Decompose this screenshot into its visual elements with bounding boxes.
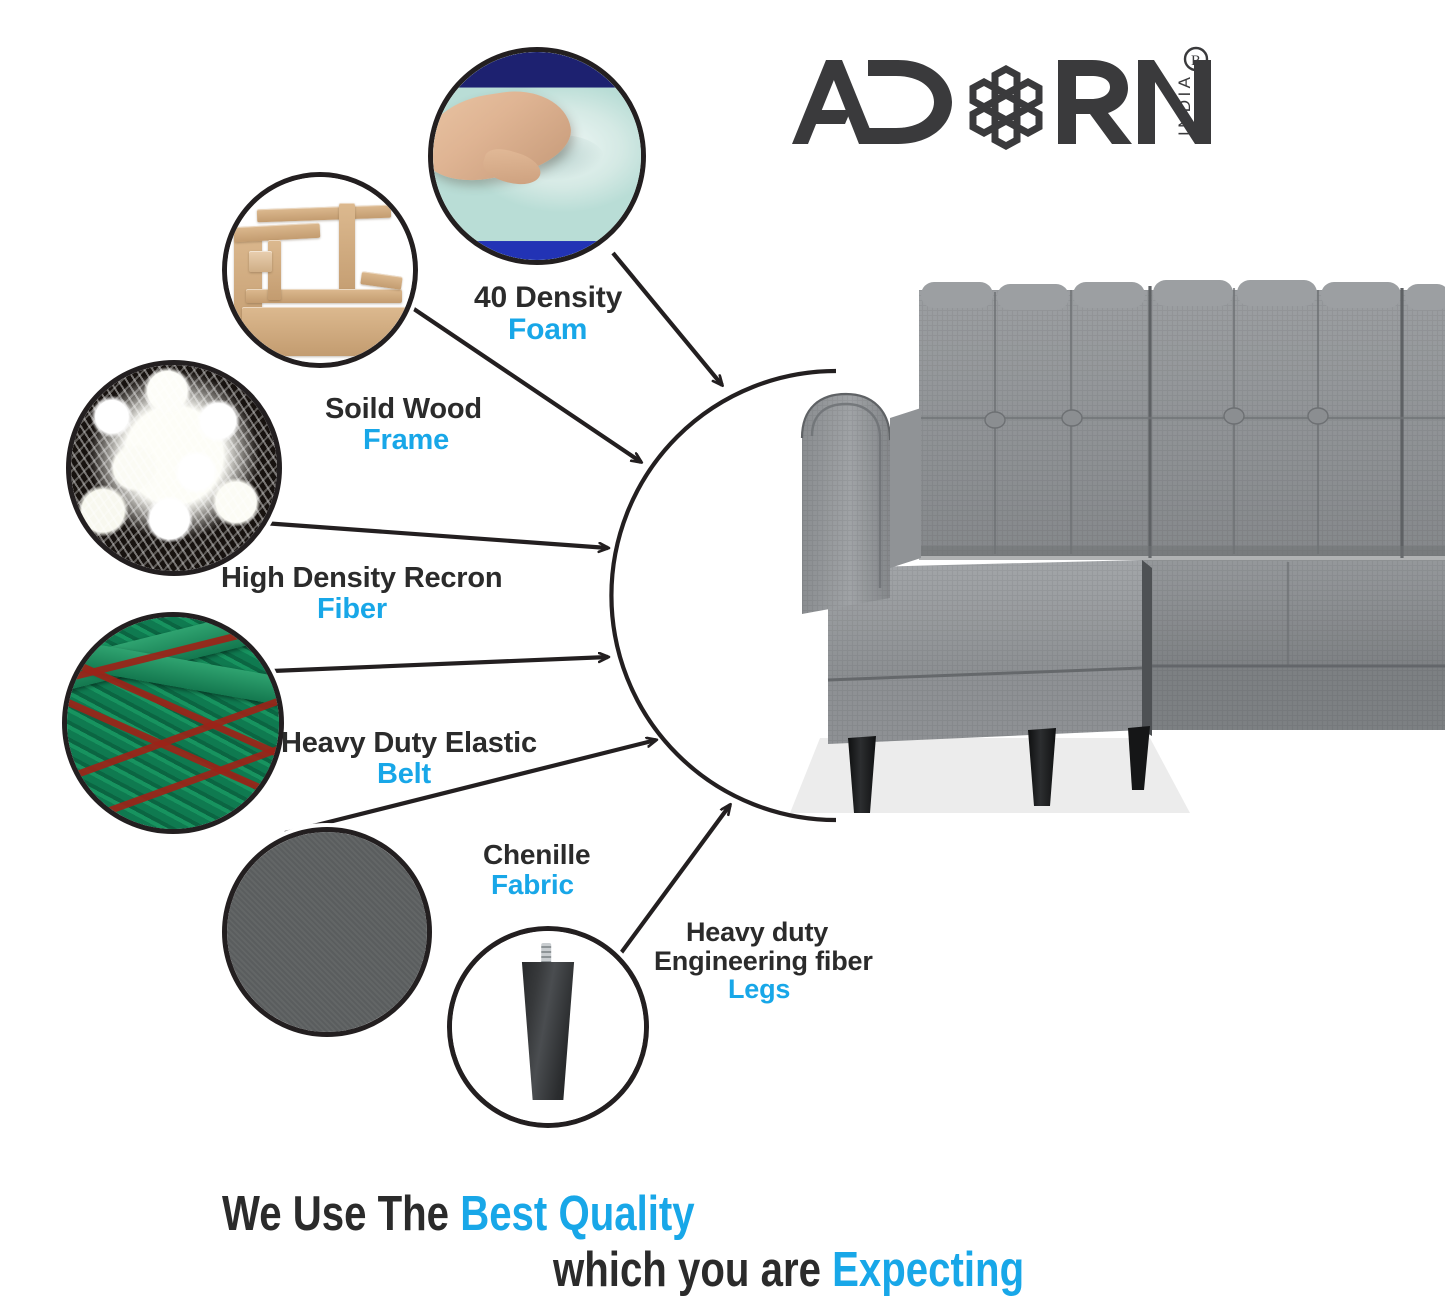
- feature-circle-belt: [62, 612, 284, 834]
- wooden-frame-photo: [227, 177, 413, 363]
- tagline-line2-accent: Expecting: [832, 1243, 1024, 1297]
- brand-logo: INDIA R: [786, 44, 1216, 166]
- label-fiber: High Density Recron Fiber: [221, 563, 502, 624]
- sofa-backrest: [919, 280, 1445, 560]
- sofa-arm: [802, 394, 890, 614]
- chenille-fabric-swatch: [227, 832, 427, 1032]
- label-fabric: Chenille Fabric: [483, 840, 590, 899]
- label-frame-highlight: Frame: [363, 425, 482, 456]
- registered-trademark-icon: R: [1185, 48, 1207, 70]
- feature-circle-frame: [222, 172, 418, 368]
- brand-sub-label: INDIA: [1175, 74, 1194, 136]
- tagline-line1-accent: Best Quality: [460, 1187, 694, 1241]
- label-fiber-title: High Density Recron: [221, 563, 502, 594]
- label-belt-title: Heavy Duty Elastic: [281, 728, 537, 759]
- svg-text:R: R: [1191, 53, 1201, 69]
- feature-circle-fiber: [66, 360, 282, 576]
- label-legs-title-line2: Engineering fiber: [654, 947, 873, 976]
- label-frame-title: Soild Wood: [325, 394, 482, 425]
- label-belt-highlight: Belt: [377, 759, 537, 790]
- elastic-webbing-photo: [67, 617, 279, 829]
- infographic-canvas: INDIA R: [0, 0, 1445, 1314]
- label-foam-title: 40 Density: [474, 282, 622, 314]
- label-fabric-title: Chenille: [483, 840, 590, 870]
- label-frame: Soild Wood Frame: [325, 394, 482, 455]
- arrow-belt: [272, 657, 608, 671]
- tagline-line-1: We Use The Best Quality: [222, 1186, 695, 1242]
- tagline-line1-dark: We Use The: [222, 1187, 449, 1241]
- feature-circle-foam: [428, 47, 646, 265]
- arrow-fiber: [263, 523, 608, 548]
- tagline-line-2: which you are Expecting: [553, 1242, 1024, 1298]
- sofa-illustration: [790, 268, 1445, 833]
- sofa-leg-photo: [452, 931, 644, 1123]
- label-fiber-highlight: Fiber: [317, 594, 502, 625]
- label-belt: Heavy Duty Elastic Belt: [281, 728, 537, 789]
- label-legs-highlight: Legs: [728, 975, 873, 1004]
- label-foam-highlight: Foam: [508, 314, 622, 346]
- honeycomb-hexagon-cluster-icon: [973, 69, 1039, 146]
- tagline-line2-dark: which you are: [553, 1243, 821, 1297]
- brand-sub-text: INDIA: [1175, 74, 1194, 136]
- foam-sample-photo: [433, 52, 641, 260]
- feature-circle-legs: [447, 926, 649, 1128]
- arrow-foam: [613, 253, 722, 385]
- recron-fiber-photo: [71, 365, 277, 571]
- sofa-seat: [1142, 560, 1445, 730]
- label-fabric-highlight: Fabric: [491, 870, 590, 900]
- label-legs-title-line1: Heavy duty: [686, 918, 873, 947]
- label-foam: 40 Density Foam: [474, 282, 622, 346]
- grey-l-shaped-sectional-sofa: [790, 268, 1445, 833]
- label-legs: Heavy duty Engineering fiber Legs: [654, 918, 873, 1004]
- brand-logo-svg: INDIA R: [786, 44, 1216, 166]
- feature-circle-fabric: [222, 827, 432, 1037]
